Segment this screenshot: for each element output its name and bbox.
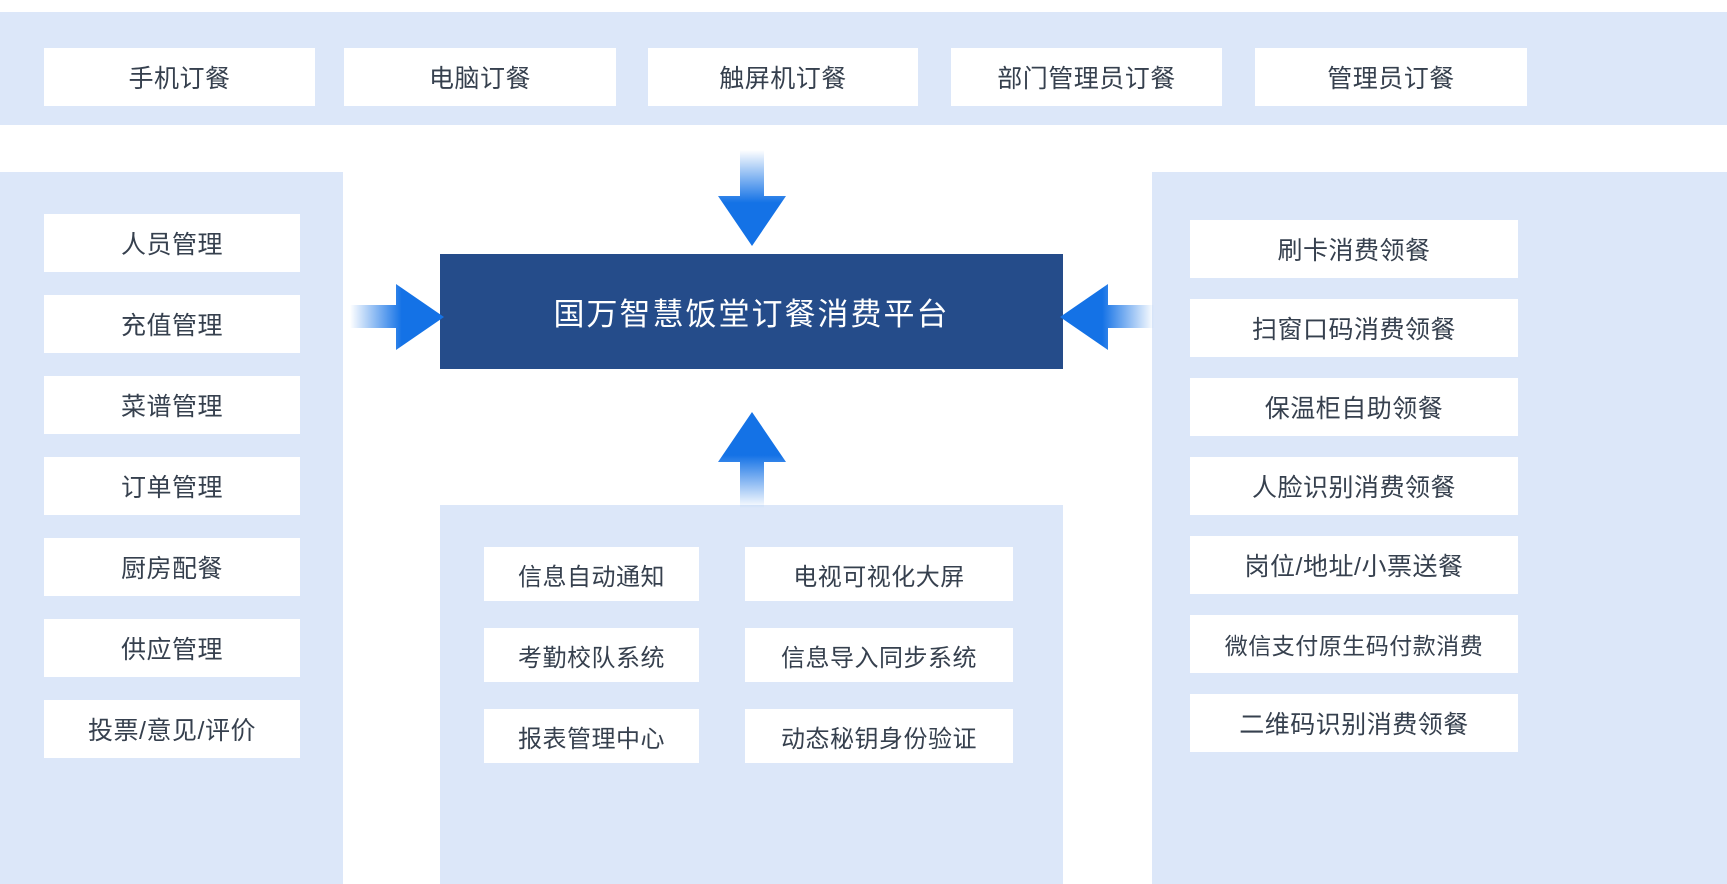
right-card-6[interactable]: 微信支付原生码付款消费: [1190, 615, 1518, 673]
diagram-canvas: 手机订餐 电脑订餐 触屏机订餐 部门管理员订餐 管理员订餐 人员管理 充值管理 …: [0, 0, 1727, 884]
left-card-2-label: 充值管理: [121, 306, 223, 342]
bottom-card-a1-label: 信息自动通知: [518, 557, 665, 592]
right-card-2-label: 扫窗口码消费领餐: [1252, 310, 1456, 346]
right-card-7-label: 二维码识别消费领餐: [1239, 705, 1469, 741]
left-card-5[interactable]: 厨房配餐: [44, 538, 300, 596]
platform-title-box: 国万智慧饭堂订餐消费平台: [440, 254, 1063, 369]
right-card-4-label: 人脸识别消费领餐: [1252, 468, 1456, 504]
bottom-card-b1[interactable]: 电视可视化大屏: [745, 547, 1013, 601]
left-card-6[interactable]: 供应管理: [44, 619, 300, 677]
bottom-features-panel: 信息自动通知 考勤校队系统 报表管理中心 电视可视化大屏 信息导入同步系统 动态…: [440, 505, 1063, 884]
right-card-3-label: 保温柜自助领餐: [1265, 389, 1444, 425]
bottom-card-b3-label: 动态秘钥身份验证: [781, 719, 977, 754]
left-card-1[interactable]: 人员管理: [44, 214, 300, 272]
bottom-card-a2[interactable]: 考勤校队系统: [484, 628, 699, 682]
left-card-1-label: 人员管理: [121, 225, 223, 261]
right-card-1-label: 刷卡消费领餐: [1277, 231, 1430, 267]
arrow-left-icon: [1058, 282, 1154, 352]
bottom-card-a3[interactable]: 报表管理中心: [484, 709, 699, 763]
left-management-panel: 人员管理 充值管理 菜谱管理 订单管理 厨房配餐 供应管理 投票/意见/评价: [0, 172, 343, 884]
bottom-card-b3[interactable]: 动态秘钥身份验证: [745, 709, 1013, 763]
right-card-6-label: 微信支付原生码付款消费: [1225, 627, 1484, 661]
bottom-card-b2-label: 信息导入同步系统: [781, 638, 977, 673]
right-card-2[interactable]: 扫窗口码消费领餐: [1190, 299, 1518, 357]
left-card-3[interactable]: 菜谱管理: [44, 376, 300, 434]
top-card-5-label: 管理员订餐: [1327, 59, 1455, 95]
top-card-4-label: 部门管理员订餐: [997, 59, 1176, 95]
left-card-7-label: 投票/意见/评价: [88, 711, 256, 747]
left-card-6-label: 供应管理: [121, 630, 223, 666]
left-card-2[interactable]: 充值管理: [44, 295, 300, 353]
arrow-right-icon: [350, 282, 446, 352]
top-card-1-label: 手机订餐: [128, 59, 230, 95]
top-card-2-label: 电脑订餐: [429, 59, 531, 95]
left-card-4-label: 订单管理: [121, 468, 223, 504]
arrow-down-icon: [716, 150, 788, 250]
left-card-5-label: 厨房配餐: [121, 549, 223, 585]
bottom-card-a1[interactable]: 信息自动通知: [484, 547, 699, 601]
top-card-3[interactable]: 触屏机订餐: [648, 48, 918, 106]
arrow-up-icon: [716, 410, 788, 510]
right-card-5[interactable]: 岗位/地址/小票送餐: [1190, 536, 1518, 594]
left-card-4[interactable]: 订单管理: [44, 457, 300, 515]
right-consumption-panel: 刷卡消费领餐 扫窗口码消费领餐 保温柜自助领餐 人脸识别消费领餐 岗位/地址/小…: [1152, 172, 1727, 884]
bottom-card-a2-label: 考勤校队系统: [518, 638, 665, 673]
bottom-card-b1-label: 电视可视化大屏: [793, 557, 965, 592]
top-card-5[interactable]: 管理员订餐: [1255, 48, 1527, 106]
right-card-1[interactable]: 刷卡消费领餐: [1190, 220, 1518, 278]
top-card-3-label: 触屏机订餐: [719, 59, 847, 95]
right-card-4[interactable]: 人脸识别消费领餐: [1190, 457, 1518, 515]
bottom-card-b2[interactable]: 信息导入同步系统: [745, 628, 1013, 682]
top-card-1[interactable]: 手机订餐: [44, 48, 315, 106]
left-card-3-label: 菜谱管理: [121, 387, 223, 423]
top-channels-panel: 手机订餐 电脑订餐 触屏机订餐 部门管理员订餐 管理员订餐: [0, 12, 1727, 125]
top-card-2[interactable]: 电脑订餐: [344, 48, 616, 106]
left-card-7[interactable]: 投票/意见/评价: [44, 700, 300, 758]
right-card-7[interactable]: 二维码识别消费领餐: [1190, 694, 1518, 752]
top-card-4[interactable]: 部门管理员订餐: [951, 48, 1222, 106]
right-card-3[interactable]: 保温柜自助领餐: [1190, 378, 1518, 436]
bottom-card-a3-label: 报表管理中心: [518, 719, 665, 754]
right-card-5-label: 岗位/地址/小票送餐: [1245, 547, 1464, 583]
page-title: 国万智慧饭堂订餐消费平台: [554, 289, 950, 334]
